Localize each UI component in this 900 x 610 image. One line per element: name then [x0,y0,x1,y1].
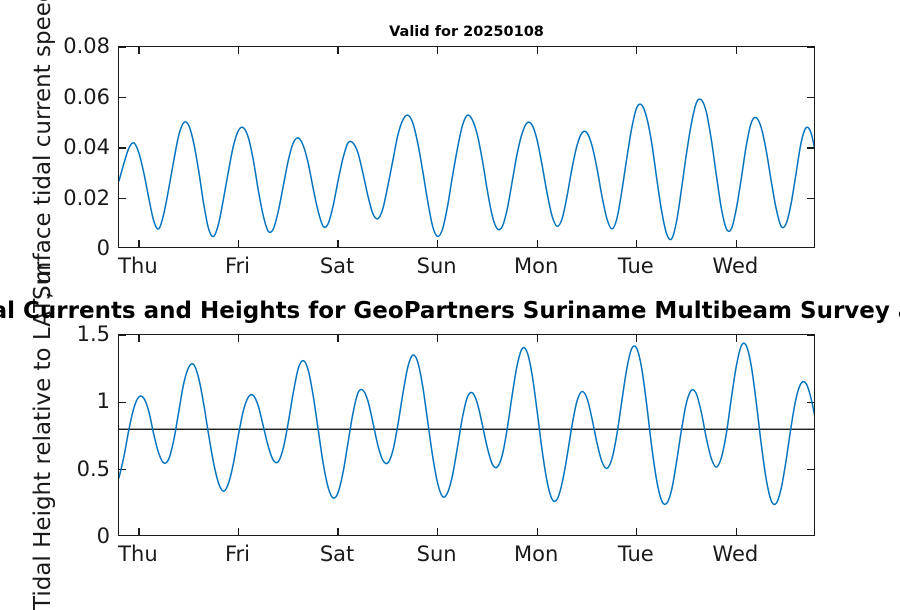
x-tick-label-wed: Wed [712,254,758,278]
y-tick-label-3: 1.5 [22,322,110,346]
series-layer [119,335,815,536]
bottom-chart-panel: ThuFriSatSunMonTueWed00.511.5 [118,334,815,536]
top-chart-title: Valid for 20250108 [118,24,815,40]
x-tick-label-sat: Sat [320,254,354,278]
y-tick-label-1: 0.02 [22,186,110,210]
y-tick-label-2: 1 [22,389,110,413]
x-tick-label-tue: Tue [618,254,654,278]
y-tick-label-2: 0.04 [22,135,110,159]
figure-canvas: Surface tidal current speed, kn Tidal He… [0,0,900,600]
y-tick-label-3: 0.06 [22,85,110,109]
x-tick-label-mon: Mon [514,542,558,566]
series-line-0 [119,343,815,504]
x-tick-label-sun: Sun [417,542,457,566]
x-tick-label-thu: Thu [118,542,157,566]
top-chart-plot-area [118,46,815,248]
y-tick-label-0: 0 [22,236,110,260]
x-tick-label-wed: Wed [712,542,758,566]
x-tick-label-thu: Thu [118,254,157,278]
x-tick-label-sun: Sun [417,254,457,278]
x-tick-label-mon: Mon [514,254,558,278]
x-tick-label-tue: Tue [618,542,654,566]
x-tick-label-fri: Fri [225,254,250,278]
bottom-chart-plot-area [118,334,815,536]
series-line-0 [119,99,815,240]
series-layer [119,47,815,248]
x-tick-label-sat: Sat [320,542,354,566]
top-chart-panel: Valid for 20250108 ThuFriSatSunMonTueWed… [118,46,815,248]
y-tick-label-0: 0 [22,524,110,548]
x-tick-label-fri: Fri [225,542,250,566]
y-tick-label-4: 0.08 [22,34,110,58]
figure-main-title: Tidal Currents and Heights for GeoPartne… [0,298,900,324]
y-tick-label-1: 0.5 [22,457,110,481]
